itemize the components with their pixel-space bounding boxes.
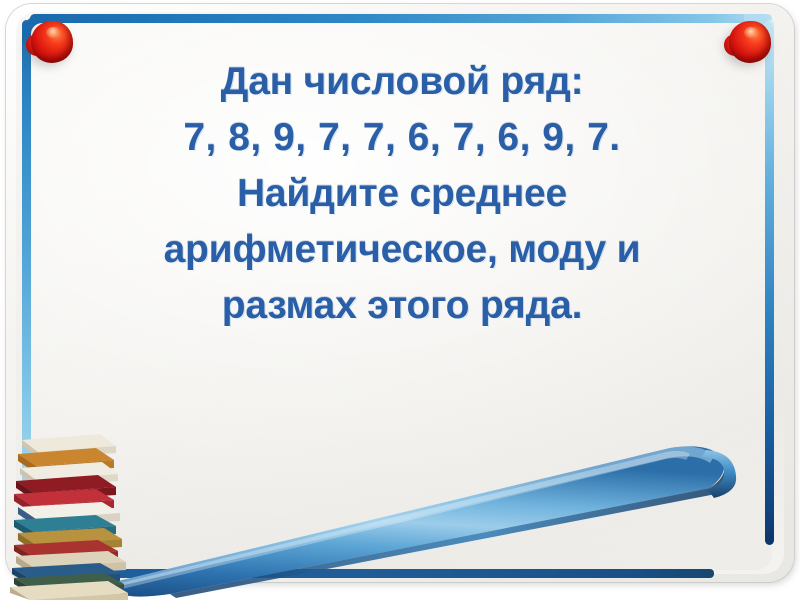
pushpin-highlight <box>744 27 759 38</box>
problem-line-2: 7, 8, 9, 7, 7, 6, 7, 6, 9, 7. <box>60 110 744 166</box>
problem-line-3: Найдите среднее <box>60 166 744 222</box>
problem-line-1: Дан числовой ряд: <box>60 54 744 110</box>
book-stack-icon <box>4 424 134 600</box>
problem-statement: Дан числовой ряд: 7, 8, 9, 7, 7, 6, 7, 6… <box>60 54 744 334</box>
page-curl-ribbon-icon <box>110 432 790 600</box>
problem-line-5: размах этого ряда. <box>60 278 744 334</box>
slide-canvas: Дан числовой ряд: 7, 8, 9, 7, 7, 6, 7, 6… <box>0 0 800 600</box>
pushpin-highlight <box>46 27 61 38</box>
problem-line-4: арифметическое, моду и <box>60 222 744 278</box>
frame-border-top <box>30 14 772 23</box>
